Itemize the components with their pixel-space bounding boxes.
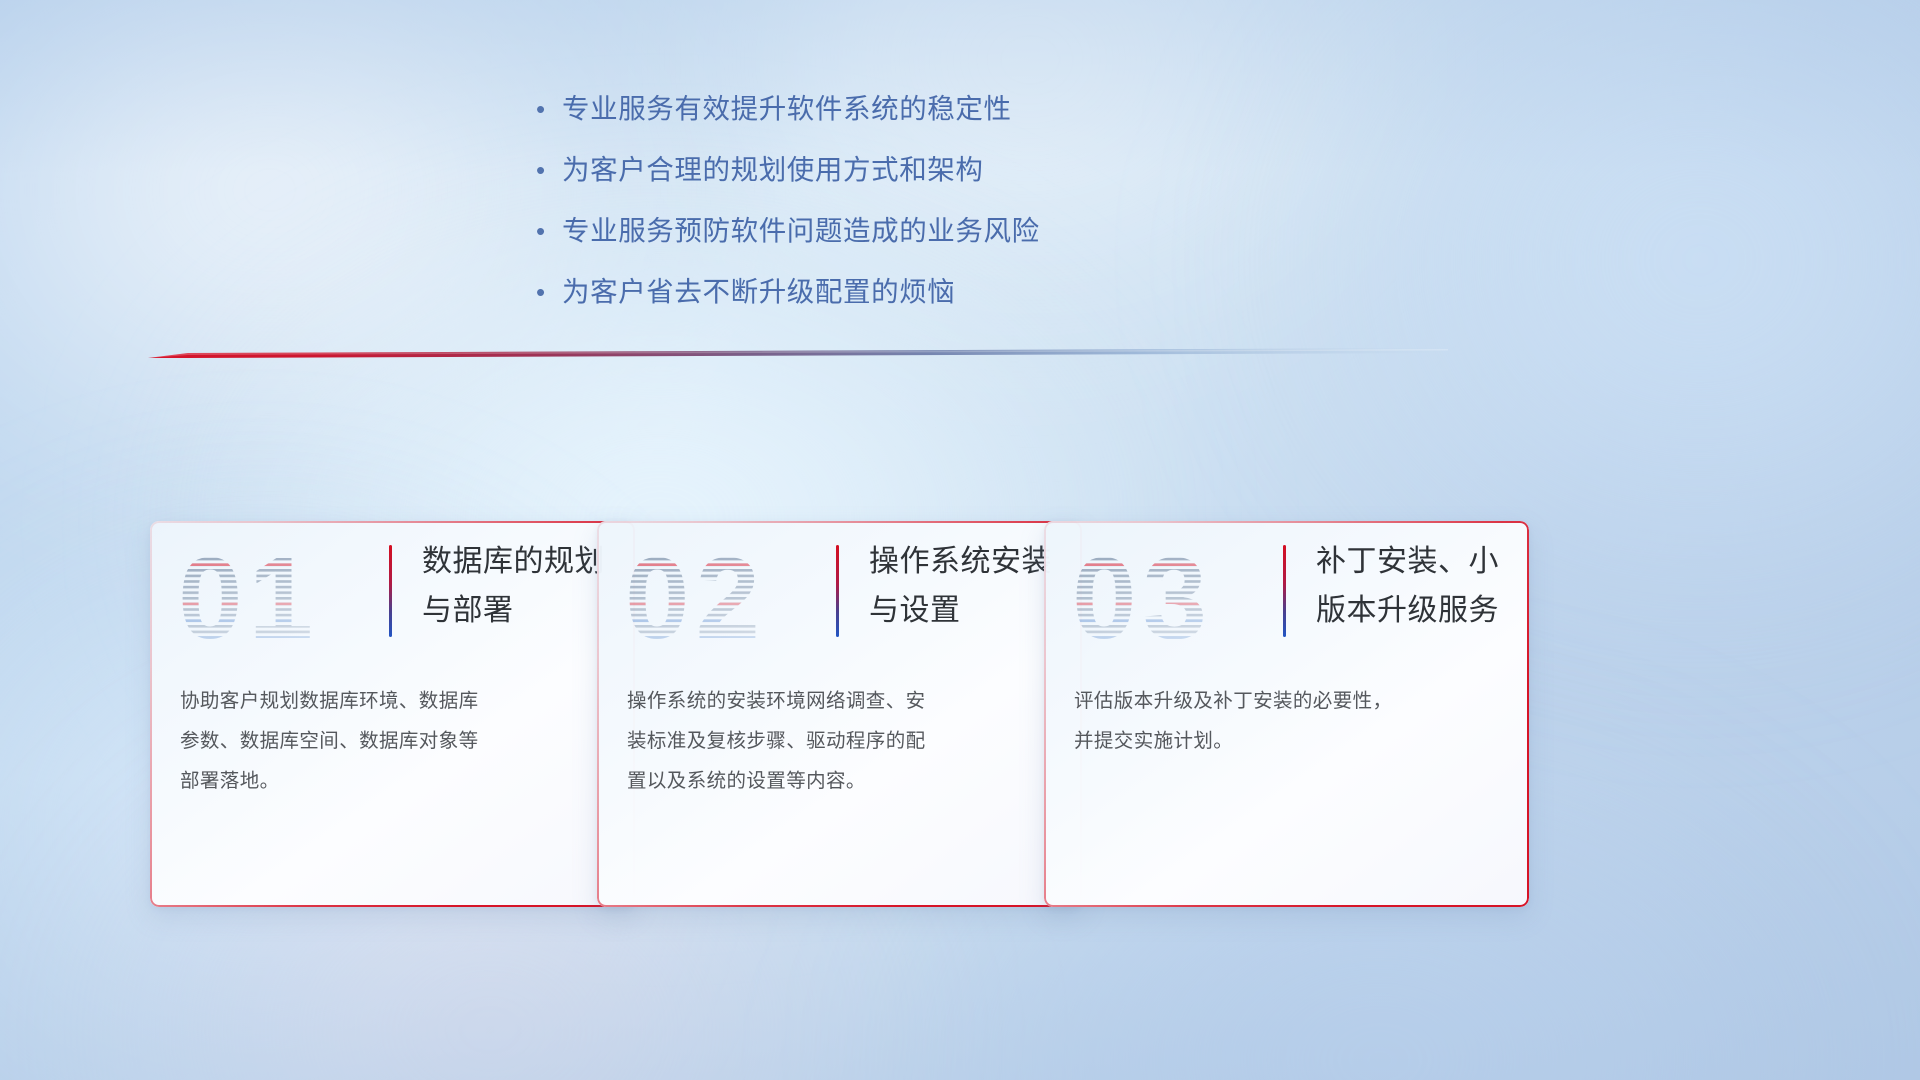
card-body-line2: 并提交实施计划。: [1074, 721, 1499, 761]
service-card-group: 01: [0, 521, 1920, 921]
list-item: • 专业服务有效提升软件系统的稳定性: [536, 90, 1296, 128]
card-title-line1: 补丁安装、小: [1316, 537, 1516, 586]
card-body-01: 协助客户规划数据库环境、数据库 参数、数据库空间、数据库对象等 部署落地。: [180, 681, 605, 801]
card-title-01: 数据库的规划 与部署: [422, 537, 622, 635]
card-body-03: 评估版本升级及补丁安装的必要性， 并提交实施计划。: [1074, 681, 1499, 761]
card-body-line2: 参数、数据库空间、数据库对象等: [180, 721, 605, 761]
card-body-line1: 操作系统的安装环境网络调查、安: [627, 681, 1052, 721]
card-content: 02: [597, 521, 1082, 907]
card-number-watermark-02: 02: [621, 541, 816, 656]
list-item: • 为客户省去不断升级配置的烦恼: [536, 273, 1296, 311]
card-title-line1: 数据库的规划: [422, 537, 622, 586]
card-title-line2: 版本升级服务: [1316, 586, 1516, 635]
bullet-dot-icon: •: [536, 90, 562, 128]
slide-canvas: • 专业服务有效提升软件系统的稳定性 • 为客户合理的规划使用方式和架构 • 专…: [0, 0, 1920, 1080]
card-header: 01: [150, 521, 635, 661]
list-item: • 专业服务预防软件问题造成的业务风险: [536, 212, 1296, 250]
card-header: 02: [597, 521, 1082, 661]
bullet-text-4: 为客户省去不断升级配置的烦恼: [562, 273, 955, 311]
card-title-line1: 操作系统安装: [869, 537, 1069, 586]
service-card-03[interactable]: 03: [1044, 521, 1529, 907]
card-body-line3: 置以及系统的设置等内容。: [627, 761, 1052, 801]
service-card-01[interactable]: 01: [150, 521, 635, 907]
card-title-02: 操作系统安装 与设置: [869, 537, 1069, 635]
card-content: 03: [1044, 521, 1529, 907]
card-title-line2: 与设置: [869, 586, 1069, 635]
bullet-dot-icon: •: [536, 212, 562, 250]
bullet-text-3: 专业服务预防软件问题造成的业务风险: [562, 212, 1040, 250]
bullet-dot-icon: •: [536, 273, 562, 311]
card-title-line2: 与部署: [422, 586, 622, 635]
card-body-line2: 装标准及复核步骤、驱动程序的配: [627, 721, 1052, 761]
section-divider: [148, 340, 1448, 366]
card-accent-rule: [836, 545, 839, 637]
card-content: 01: [150, 521, 635, 907]
card-accent-rule: [389, 545, 392, 637]
card-body-02: 操作系统的安装环境网络调查、安 装标准及复核步骤、驱动程序的配 置以及系统的设置…: [627, 681, 1052, 801]
card-body-line1: 协助客户规划数据库环境、数据库: [180, 681, 605, 721]
service-card-02[interactable]: 02: [597, 521, 1082, 907]
benefits-bullet-list: • 专业服务有效提升软件系统的稳定性 • 为客户合理的规划使用方式和架构 • 专…: [536, 90, 1296, 334]
bullet-text-1: 专业服务有效提升软件系统的稳定性: [562, 90, 1012, 128]
card-header: 03: [1044, 521, 1529, 661]
card-body-line3: 部署落地。: [180, 761, 605, 801]
card-number-watermark-03: 03: [1068, 541, 1263, 656]
card-title-03: 补丁安装、小 版本升级服务: [1316, 537, 1516, 635]
list-item: • 为客户合理的规划使用方式和架构: [536, 151, 1296, 189]
bullet-text-2: 为客户合理的规划使用方式和架构: [562, 151, 984, 189]
card-accent-rule: [1283, 545, 1286, 637]
card-body-line1: 评估版本升级及补丁安装的必要性，: [1074, 681, 1499, 721]
bullet-dot-icon: •: [536, 151, 562, 189]
card-number-watermark-01: 01: [174, 541, 369, 656]
